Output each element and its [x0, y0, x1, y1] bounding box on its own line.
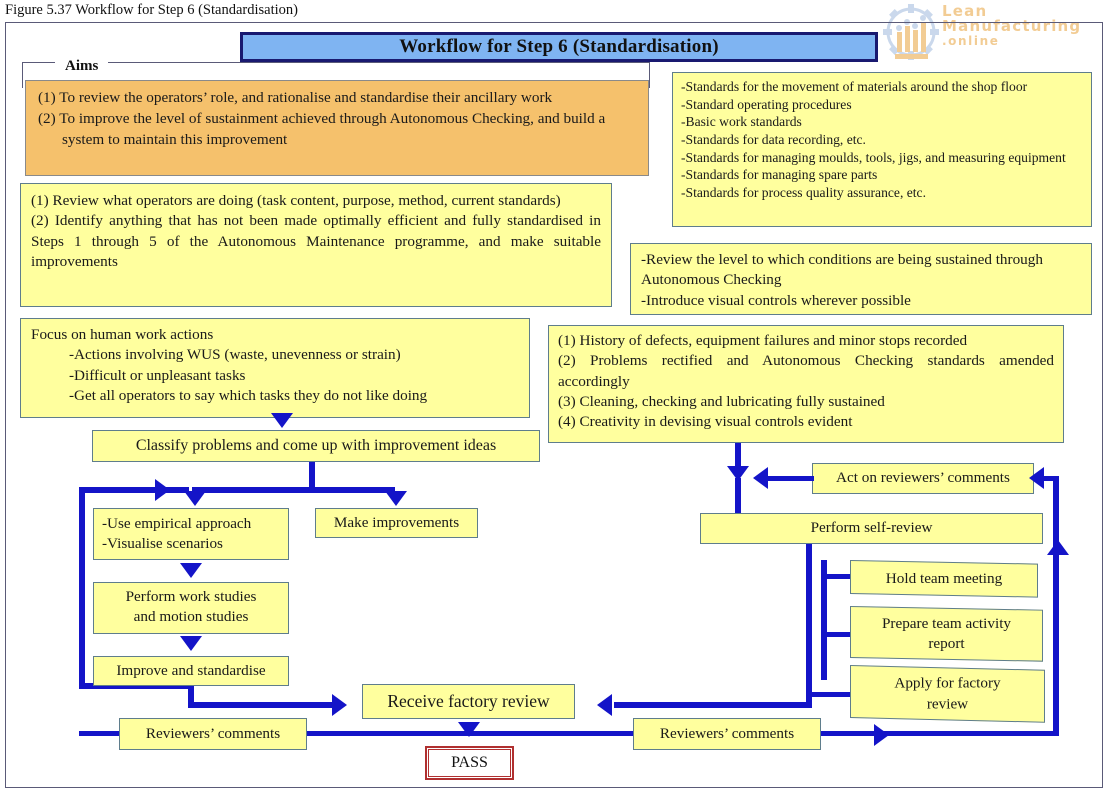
connector-apply-to-receive	[614, 702, 812, 708]
apply-factory-review-box: Apply for factory review	[850, 665, 1045, 723]
focus-item: -Actions involving WUS (waste, unevennes…	[31, 345, 519, 365]
classify-problems-box: Classify problems and come up with impro…	[92, 430, 540, 462]
focus-item: -Difficult or unpleasant tasks	[31, 366, 519, 386]
prepare-team-report-line-1: Prepare team activity	[882, 613, 1011, 633]
review-operators-item-2: (2) Identify anything that has not been …	[31, 211, 601, 272]
perform-self-review-label: Perform self-review	[701, 514, 1042, 543]
work-studies-box: Perform work studies and motion studies	[93, 582, 289, 634]
reviewers-comments-right-label: Reviewers’ comments	[634, 719, 820, 749]
work-studies-line-1: Perform work studies	[100, 587, 282, 607]
connector-loop-left	[79, 487, 85, 689]
arrow-workstudies-to-improve	[180, 636, 202, 651]
evidence-item: (4) Creativity in devising visual contro…	[558, 412, 1054, 432]
aims-item-1-marker	[38, 88, 42, 108]
figure-root: Figure 5.37 Workflow for Step 6 (Standar…	[0, 0, 1109, 795]
standards-item: -Standards for process quality assurance…	[681, 184, 1083, 202]
apply-factory-review-line-1: Apply for factory	[894, 674, 1000, 694]
review-evidence-box: (1) History of defects, equipment failur…	[548, 325, 1064, 443]
reviewers-comments-left-box: Reviewers’ comments	[119, 718, 307, 750]
empirical-approach-box: -Use empirical approach -Visualise scena…	[93, 508, 289, 560]
focus-item: -Get all operators to say which tasks th…	[31, 386, 519, 406]
arrow-apply-to-receive	[597, 694, 612, 716]
act-on-comments-box: Act on reviewers’ comments	[812, 463, 1034, 494]
make-improvements-label: Make improvements	[316, 509, 477, 537]
arrow-improve-to-receive	[332, 694, 347, 716]
receive-factory-review-box: Receive factory review	[362, 684, 575, 719]
standards-item: -Basic work standards	[681, 113, 1083, 131]
prepare-team-report-line-2: report	[928, 634, 964, 654]
improve-standardise-label: Improve and standardise	[94, 657, 288, 685]
apply-factory-review-labels: Apply for factory review	[851, 668, 1044, 719]
prepare-team-report-labels: Prepare team activity report	[851, 609, 1042, 659]
act-on-comments-label: Act on reviewers’ comments	[813, 464, 1033, 493]
aims-item-1: (1) To review the operators’ role, and r…	[38, 89, 552, 106]
aims-box: (1) To review the operators’ role, and r…	[25, 80, 649, 176]
connector-loop-top	[79, 487, 189, 493]
connector-evidence-down-2	[735, 478, 741, 513]
standards-list-box: -Standards for the movement of materials…	[672, 72, 1092, 227]
connector-improve-right	[188, 702, 336, 708]
pass-box: PASS	[425, 746, 514, 780]
connector-classify-stem	[309, 462, 315, 490]
hold-team-meeting-label: Hold team meeting	[851, 563, 1037, 595]
review-operators-box: (1) Review what operators are doing (tas…	[20, 183, 612, 307]
hold-team-meeting-box: Hold team meeting	[850, 560, 1038, 598]
aims-item-2-wrap: (2) To improve the level of sustainment …	[38, 109, 636, 150]
reviewers-comments-left-label: Reviewers’ comments	[120, 719, 306, 749]
standards-item: -Standards for data recording, etc.	[681, 131, 1083, 149]
make-improvements-box: Make improvements	[315, 508, 478, 538]
evidence-item: (3) Cleaning, checking and lubricating f…	[558, 392, 1054, 412]
pass-label: PASS	[451, 754, 488, 772]
standards-item: -Standards for managing moulds, tools, j…	[681, 149, 1083, 167]
perform-self-review-box: Perform self-review	[700, 513, 1043, 544]
connector-selfreview-stem	[806, 544, 812, 706]
empirical-item-1: -Use empirical approach	[102, 514, 280, 534]
reviewers-comments-right-box: Reviewers’ comments	[633, 718, 821, 750]
empirical-item-2: -Visualise scenarios	[102, 534, 280, 554]
watermark-line1: Lean	[942, 4, 1081, 19]
review-operators-item-1: (1) Review what operators are doing (tas…	[31, 191, 601, 211]
sustainment-item: -Introduce visual controls wherever poss…	[641, 291, 1081, 311]
connector-to-apply-review	[806, 692, 855, 697]
receive-factory-review-label: Receive factory review	[363, 685, 574, 718]
prepare-team-report-box: Prepare team activity report	[850, 606, 1043, 662]
focus-title: Focus on human work actions	[31, 325, 519, 345]
arrow-to-make-improvements	[385, 491, 407, 506]
arrow-riser-to-act	[1029, 467, 1044, 489]
connector-act-to-left	[768, 476, 814, 481]
sustainment-item: -Review the level to which conditions ar…	[641, 250, 1081, 291]
standards-item: -Standards for managing spare parts	[681, 166, 1083, 184]
evidence-item: (2) Problems rectified and Autonomous Ch…	[558, 351, 1054, 392]
evidence-item: (1) History of defects, equipment failur…	[558, 331, 1054, 351]
focus-human-work-box: Focus on human work actions -Actions inv…	[20, 318, 530, 418]
connector-bottom-to-riser	[884, 731, 1059, 736]
aims-item-2: (2) To improve the level of sustainment …	[38, 110, 605, 147]
improve-standardise-box: Improve and standardise	[93, 656, 289, 686]
figure-caption: Figure 5.37 Workflow for Step 6 (Standar…	[5, 2, 298, 19]
classify-label: Classify problems and come up with impro…	[93, 431, 539, 461]
arrow-empirical-to-workstudies	[180, 563, 202, 578]
arrow-loop-into-empirical	[155, 479, 170, 501]
sustainment-box: -Review the level to which conditions ar…	[630, 243, 1092, 315]
diagram-title: Workflow for Step 6 (Standardisation)	[399, 36, 719, 58]
connector-right-riser	[1053, 476, 1059, 736]
apply-factory-review-line-2: review	[927, 694, 968, 714]
aims-item-1-wrap: (1) To review the operators’ role, and r…	[38, 88, 636, 108]
work-studies-line-2: and motion studies	[100, 607, 282, 627]
diagram-title-banner: Workflow for Step 6 (Standardisation)	[240, 32, 878, 62]
aims-label: Aims	[55, 58, 108, 75]
standards-item: -Standard operating procedures	[681, 96, 1083, 114]
arrow-riser-up	[1047, 540, 1069, 555]
arrow-focus-to-classify	[271, 413, 293, 428]
connector-classify-split	[192, 487, 395, 493]
arrow-act-to-selfreview	[753, 467, 768, 489]
standards-item: -Standards for the movement of materials…	[681, 78, 1083, 96]
arrow-to-empirical	[184, 491, 206, 506]
